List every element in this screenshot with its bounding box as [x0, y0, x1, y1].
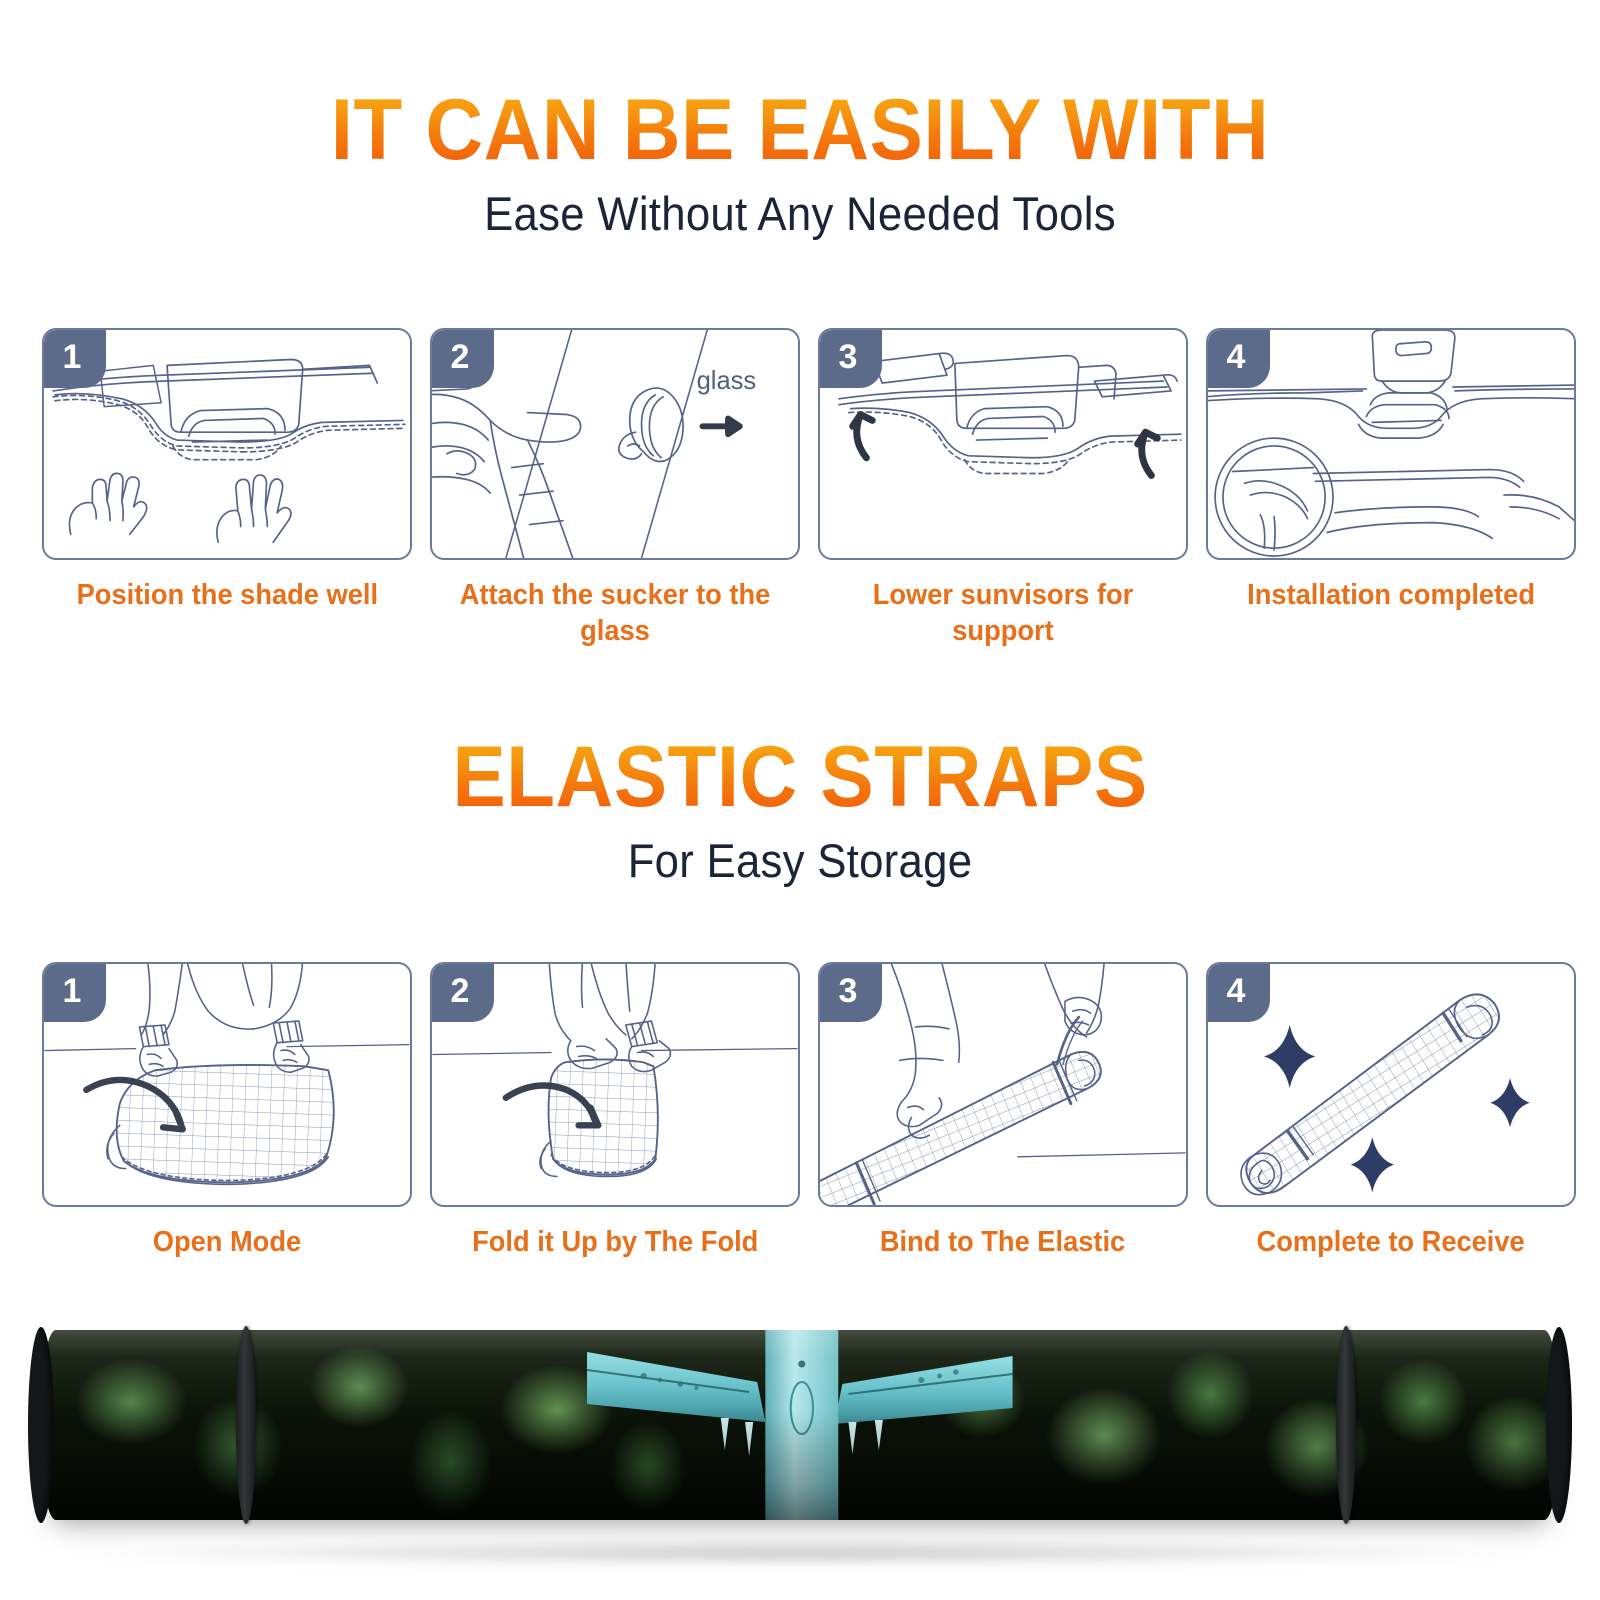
rolled-sunshade [40, 1330, 1560, 1520]
step-caption-storage-1: Open Mode [153, 1224, 301, 1260]
step-badge-2: 2 [432, 964, 494, 1022]
step-badge-2: 2 [432, 330, 494, 388]
step-card-install-4[interactable]: 4 [1206, 328, 1576, 650]
installation-subtitle: Ease Without Any Needed Tools [56, 186, 1544, 241]
step-badge-1: 1 [44, 330, 106, 388]
roll-end-cap-right [1546, 1327, 1572, 1523]
section-storage-heading: ELASTIC STRAPS For Easy Storage [0, 735, 1600, 888]
airplane-print [587, 1330, 1013, 1520]
step-caption-storage-4: Complete to Receive [1257, 1224, 1525, 1260]
step-caption-install-2: Attach the sucker to the glass [446, 577, 784, 650]
infographic-page: IT CAN BE EASILY WITH Ease Without Any N… [0, 0, 1600, 1600]
storage-title: ELASTIC STRAPS [56, 735, 1544, 819]
step-caption-install-3: Lower sunvisors for support [834, 577, 1172, 650]
step-caption-install-1: Position the shade well [76, 577, 377, 613]
product-photo [0, 1312, 1600, 1572]
step-panel-install-1: 1 [42, 328, 412, 560]
step-badge-3: 3 [820, 964, 882, 1022]
step-panel-storage-3: 3 [818, 962, 1188, 1207]
step-badge-1: 1 [44, 964, 106, 1022]
storage-subtitle: For Easy Storage [56, 833, 1544, 888]
glass-label: glass [697, 367, 757, 395]
step-badge-4: 4 [1208, 330, 1270, 388]
installation-title: IT CAN BE EASILY WITH [56, 88, 1544, 172]
step-card-storage-1[interactable]: 1 [42, 962, 412, 1260]
step-panel-install-3: 3 [818, 328, 1188, 560]
step-caption-storage-2: Fold it Up by The Fold [472, 1224, 758, 1260]
step-panel-storage-2: 2 [430, 962, 800, 1207]
step-caption-install-4: Installation completed [1247, 577, 1535, 613]
step-badge-3: 3 [820, 330, 882, 388]
step-card-storage-3[interactable]: 3 [818, 962, 1188, 1260]
step-card-storage-4[interactable]: 4 [1206, 962, 1576, 1260]
step-panel-storage-4: 4 [1206, 962, 1576, 1207]
roll-end-cap-left [28, 1327, 54, 1523]
section-installation-heading: IT CAN BE EASILY WITH Ease Without Any N… [0, 88, 1600, 241]
step-panel-storage-1: 1 [42, 962, 412, 1207]
step-card-install-1[interactable]: 1 [42, 328, 412, 650]
step-panel-install-4: 4 [1206, 328, 1576, 560]
product-drop-shadow [70, 1540, 1530, 1566]
step-caption-storage-3: Bind to The Elastic [880, 1224, 1125, 1260]
elastic-strap [236, 1326, 256, 1524]
step-panel-install-2: 2 [430, 328, 800, 560]
elastic-strap [1336, 1326, 1356, 1524]
storage-steps-row: 1 [42, 962, 1558, 1260]
step-card-install-2[interactable]: 2 [430, 328, 800, 650]
step-badge-4: 4 [1208, 964, 1270, 1022]
step-card-storage-2[interactable]: 2 [430, 962, 800, 1260]
roll-print-surface [40, 1330, 1560, 1520]
installation-steps-row: 1 [42, 328, 1558, 650]
step-card-install-3[interactable]: 3 [818, 328, 1188, 650]
